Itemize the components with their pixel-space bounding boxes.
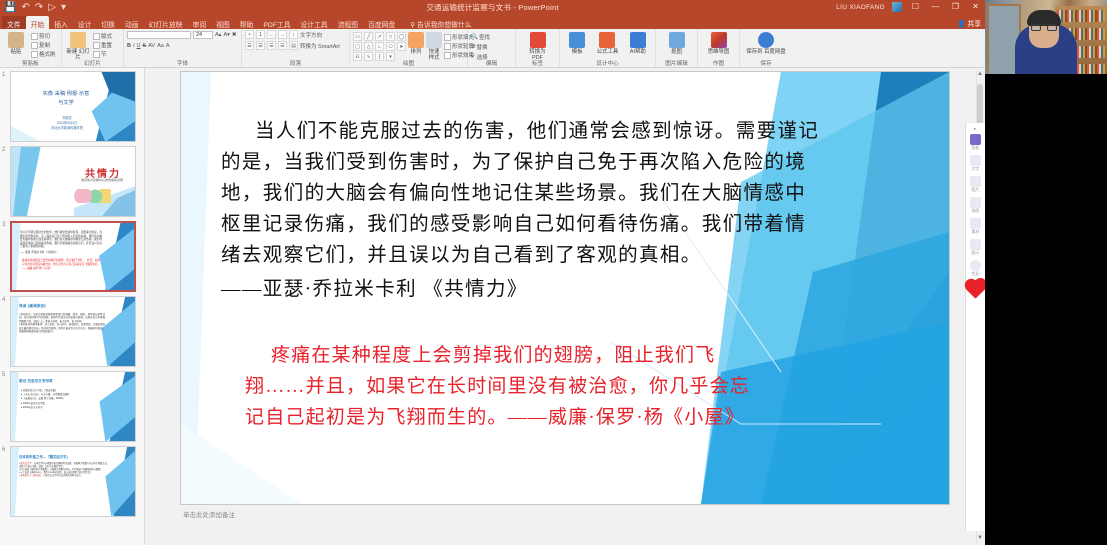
lightbulb-icon: ⚲: [410, 22, 415, 29]
rail-collapse-icon[interactable]: ▸: [974, 126, 976, 131]
quick-styles-label: 快速样式: [426, 49, 442, 61]
color-icon: [970, 260, 981, 271]
paragraph-line-4: 枢里记录伤痛，我们的感受影响自己如何看待伤痛。我们带着情: [221, 209, 839, 240]
mindmap-icon: [711, 32, 727, 48]
copy-icon: [31, 42, 38, 49]
rail-item-smart[interactable]: 智能: [970, 134, 981, 151]
chart-icon: [970, 239, 981, 250]
thumb-title-6: 日本的失落之书—「震灾后文学」: [19, 454, 70, 459]
ai-help-button[interactable]: AI帮助: [625, 30, 651, 55]
section-icon: [93, 51, 100, 58]
thumb-red-3: 疼痛在某种程度上会剪掉我们的翅膀，阻止我们飞翔……并且，如果它在长时间里没有被治…: [22, 259, 100, 270]
notes-pane[interactable]: 单击此处添加备注: [181, 509, 949, 519]
work-area: 1 实像·采稿·例报·示意 与文学: [0, 68, 985, 545]
ribbon-group-editing: 🔍查找 ⇄替换 ✓选择 编辑: [468, 29, 516, 68]
list-item[interactable]: 2 共情力 用共情力化解内心的伤痛和愤怒: [10, 146, 138, 217]
strikethrough-button[interactable]: S: [143, 43, 147, 49]
quick-styles-icon: [426, 32, 442, 48]
tab-help[interactable]: 帮助: [235, 16, 259, 29]
rail-label-text: 文字: [972, 166, 980, 171]
shape-triangle-icon[interactable]: △: [364, 42, 373, 51]
layout-button[interactable]: 版式: [93, 32, 112, 40]
shape-more-icon[interactable]: ▾: [386, 52, 395, 61]
thumb-title-1: 实像·采稿·例报·示意 与文学: [29, 90, 103, 108]
tab-transitions[interactable]: 切换: [96, 16, 120, 29]
red-quote-block[interactable]: 疼痛在某种程度上会剪掉我们的翅膀，阻止我们飞 翔……并且，如果它在长时间里没有被…: [245, 340, 853, 433]
shape-line-icon[interactable]: ╱: [364, 32, 373, 41]
tab-slideshow[interactable]: 幻灯片放映: [144, 16, 188, 29]
ribbon-display-options-icon[interactable]: ☐: [909, 1, 922, 13]
title-bar: 💾 ↶ ↷ ▷ ▾ 交通运输统计监察与文书 - PowerPoint LIU X…: [0, 0, 985, 16]
increase-font-icon[interactable]: A▴: [215, 32, 221, 38]
align-left-icon[interactable]: ☰: [245, 41, 254, 50]
rail-header[interactable]: ▸: [974, 126, 976, 131]
restore-button[interactable]: ❐: [949, 1, 962, 13]
rail-item-text[interactable]: 文字: [970, 155, 981, 172]
red-line-1: 疼痛在某种程度上会剪掉我们的翅膀，阻止我们飞: [245, 340, 853, 371]
tag-group-label: 标签: [519, 61, 556, 68]
paragraph-line-1: 当人们不能克服过去的伤害，他们通常会感到惊讶。需要谨记: [221, 116, 839, 147]
current-slide[interactable]: 当人们不能克服过去的伤害，他们通常会感到惊讶。需要谨记 的是，当我们受到伤害时，…: [181, 72, 949, 504]
shape-oval-icon[interactable]: ◯: [397, 32, 406, 41]
format-painter-label: 格式刷: [39, 50, 56, 58]
image-edit-group-label: 图片编辑: [659, 61, 694, 68]
thumb-title-line1: 实像·采稿·例报·示意: [29, 90, 103, 99]
underline-button[interactable]: U: [137, 43, 141, 49]
replace-icon: ⇄: [471, 44, 476, 50]
tab-design-tools[interactable]: 设计工具: [296, 16, 333, 29]
baidu-cloud-icon: [758, 32, 774, 48]
font-name-input[interactable]: [127, 31, 191, 39]
paragraph-line-5: 绪去观察它们，并且误以为自己看到了客观的真相。: [221, 240, 839, 271]
thumb-number: 5: [2, 372, 5, 378]
quote-attribution: ——亚瑟·乔拉米卡利 《共情力》: [221, 273, 839, 307]
image-icon: [970, 176, 981, 187]
pdf-icon: [530, 32, 546, 48]
material-icon: [970, 218, 981, 229]
thumb-body-5: ▸ 范爱农日记与书信，《鲁迅全集》 ▸ 《卡夫卡日记》，卡夫卡著，河北教育出版社…: [21, 389, 103, 410]
new-slide-icon: [70, 32, 86, 48]
rail-label-smart: 智能: [972, 145, 980, 150]
decrease-font-icon[interactable]: A▾: [223, 32, 229, 38]
shape-effects-icon: [444, 52, 451, 59]
ribbon-tabs[interactable]: 文件 开始 插入 设计 切换 动画 幻灯片放映 审阅 视图 帮助 PDF工具 设…: [0, 16, 985, 29]
font-size-input[interactable]: 24: [193, 31, 213, 39]
find-label: 查找: [479, 33, 490, 41]
text-direction-label[interactable]: 文字方向: [300, 31, 322, 39]
shape-brace-icon[interactable]: {: [375, 52, 384, 61]
layout-icon: [970, 197, 981, 208]
save-group-label: 保存: [743, 61, 789, 68]
slide-thumbnail-6[interactable]: 日本的失落之书—「震灾后文学」 ▪ 震灾后文学：日本文学中以地震灾害为题材的作品…: [10, 446, 136, 517]
columns-icon[interactable]: ▤: [289, 41, 298, 50]
increase-indent-icon[interactable]: →: [278, 30, 287, 39]
select-icon: ✓: [471, 54, 476, 60]
tab-review[interactable]: 审阅: [188, 16, 212, 29]
shape-rounded-icon[interactable]: ▢: [353, 42, 362, 51]
paragraph-text-1: 当人们不能克服过去的伤害，他们通常会感到惊讶。需要谨记: [221, 121, 819, 142]
thumb-sub-2: 用共情力化解内心的伤痛和愤怒: [81, 178, 123, 182]
ribbon-group-diagram: 思维导图 作图: [698, 29, 740, 68]
notes-placeholder: 单击此处添加备注: [183, 512, 235, 519]
list-item[interactable]: 6 日本的失落之书—「震灾后文学」 ▪ 震灾后文学：日本文学中以地震灾害为题材的…: [10, 446, 138, 517]
paste-icon: [8, 32, 24, 48]
slide-thumbnail-1[interactable]: 实像·采稿·例报·示意 与文学 刘晓芳 2022年6月2日 河北大学新闻传播学院: [10, 71, 136, 142]
rail-label-material: 素材: [972, 229, 980, 234]
copy-button[interactable]: 复制: [31, 41, 56, 49]
minimize-button[interactable]: —: [929, 1, 942, 13]
shape-arrow-icon[interactable]: ↗: [375, 32, 384, 41]
ribbon-group-slides: 新建 幻灯片 版式 重置 节 幻灯片: [62, 29, 124, 68]
tab-baidu-netdisk[interactable]: 百度网盘: [363, 16, 400, 29]
convert-pdf-button[interactable]: 转换为PDF: [525, 30, 551, 61]
tab-home[interactable]: 开始: [26, 16, 50, 29]
slide-thumbnail-pane[interactable]: 1 实像·采稿·例报·示意 与文学: [0, 68, 145, 545]
tab-flowchart[interactable]: 流程图: [333, 16, 363, 29]
format-painter-icon: [31, 51, 38, 58]
window-controls: LIU XIAOFANG ☐ — ❐ ✕: [836, 1, 982, 13]
thumb-illustration-2: [71, 189, 111, 203]
screen-root: 💾 ↶ ↷ ▷ ▾ 交通运输统计监察与文书 - PowerPoint LIU X…: [0, 0, 1107, 545]
thumb-number: 6: [2, 447, 5, 453]
cut-button[interactable]: 剪切: [31, 32, 56, 40]
arrange-label: 排列: [411, 49, 422, 55]
slide-thumbnail-2[interactable]: 共情力 用共情力化解内心的伤痛和愤怒: [10, 146, 136, 217]
editing-group-label: 编辑: [471, 61, 512, 68]
design-center-group-label: 设计中心: [563, 61, 652, 68]
scroll-up-arrow[interactable]: ▲: [977, 70, 983, 79]
save-to-baidu-label: 保存到 百度网盘: [746, 49, 785, 55]
rail-item-color[interactable]: 色彩: [970, 260, 981, 277]
bookshelf-row: [1057, 10, 1105, 22]
thumb-number: 3: [2, 222, 5, 228]
tab-pdf-tools[interactable]: PDF工具: [258, 16, 295, 29]
red-line-3: 记自己起初是为飞翔而生的。——威廉·保罗·杨《小屋》: [245, 402, 853, 433]
change-case-button[interactable]: Aa: [157, 43, 164, 49]
presenter-camera[interactable]: [985, 0, 1107, 80]
thumb-attrib-3: ——亚瑟·乔拉米卡利 《共情力》: [20, 250, 58, 254]
rail-label-image: 图片: [972, 187, 980, 192]
reset-button[interactable]: 重置: [93, 41, 112, 49]
slides-group-label: 幻灯片: [65, 61, 120, 68]
replace-label: 替换: [477, 43, 488, 51]
rail-label-layout: 排版: [972, 208, 980, 213]
slide-main-text[interactable]: 当人们不能克服过去的伤害，他们通常会感到惊讶。需要谨记 的是，当我们受到伤害时，…: [221, 116, 839, 307]
mindmap-label: 思维导图: [708, 49, 730, 55]
thumb-number: 2: [2, 147, 5, 153]
account-name[interactable]: LIU XIAOFANG: [836, 4, 885, 11]
mindmap-button[interactable]: 思维导图: [706, 30, 732, 55]
drawing-group-label: 绘图: [353, 61, 464, 68]
select-button[interactable]: ✓选择: [471, 53, 488, 61]
layout-icon: [93, 33, 100, 40]
paste-button[interactable]: 粘贴: [3, 30, 29, 55]
text-icon: [970, 155, 981, 166]
layout-label: 版式: [101, 32, 112, 40]
rail-item-chart[interactable]: 图示: [970, 239, 981, 256]
glasses-lens-left: [1031, 25, 1041, 31]
rail-item-image[interactable]: 图片: [970, 176, 981, 193]
clipboard-group-label: 剪贴板: [3, 61, 58, 68]
share-icon: 👤: [957, 21, 965, 28]
ribbon-group-save: 保存到 百度网盘 保存: [740, 29, 792, 68]
paragraph-line-3: 地，我们的大脑会有偏向性地记住某些场景。我们在大脑情感中: [221, 178, 839, 209]
shape-chevron-icon[interactable]: ➤: [397, 42, 406, 51]
tab-insert[interactable]: 插入: [49, 16, 73, 29]
scissors-icon: [31, 33, 38, 40]
list-item[interactable]: 5 笔记·日志与文书书写 ▸ 范爱农日记与书信，《鲁迅全集》 ▸ 《卡夫卡日记》…: [10, 371, 138, 442]
avatar[interactable]: [892, 2, 902, 12]
list-item[interactable]: 1 实像·采稿·例报·示意 与文学: [10, 71, 138, 142]
ai-help-icon: [630, 32, 646, 48]
cutout-button[interactable]: 抠图: [664, 30, 690, 55]
font-color-button[interactable]: A: [166, 43, 170, 49]
share-label: 共享: [967, 21, 981, 28]
share-button[interactable]: 👤 共享: [957, 18, 981, 28]
ribbon-group-drawing: ▭╱↗□◯ ▢△∟⬠➤ ⎌∿{▾ 排列 快速样式 形状填充 形状轮廓: [350, 29, 468, 68]
section-button[interactable]: 节: [93, 50, 112, 58]
rail-label-chart: 图示: [972, 250, 980, 255]
convert-pdf-label: 转换为PDF: [525, 49, 551, 61]
rail-item-material[interactable]: 素材: [970, 218, 981, 235]
thumb-body-6: ▪ 震灾后文学：日本文学中以地震灾害为题材的作品群，在阪神大地震与东日本大地震之…: [19, 463, 109, 478]
tell-me-label: 告诉我你想做什么: [417, 22, 471, 29]
formula-label: 公式工具: [597, 49, 619, 55]
find-button[interactable]: 🔍查找: [471, 33, 490, 41]
red-text-1: 疼痛在某种程度上会剪掉我们的翅膀，阻止我们飞: [245, 345, 715, 366]
ribbon-group-clipboard: 粘贴 剪切 复制 格式刷 剪贴板: [0, 29, 62, 68]
rail-label-color: 色彩: [972, 271, 980, 276]
shape-square-icon[interactable]: □: [386, 32, 395, 41]
ribbon-group-tag: 转换为PDF 标签: [516, 29, 560, 68]
thumb-number: 4: [2, 297, 5, 303]
slide-thumbnail-5[interactable]: 笔记·日志与文书书写 ▸ 范爱农日记与书信，《鲁迅全集》 ▸ 《卡夫卡日记》，卡…: [10, 371, 136, 442]
diagram-group-label: 作图: [701, 61, 736, 68]
shape-elbow-icon[interactable]: ∟: [375, 42, 384, 51]
font-group-label: 字体: [127, 61, 238, 68]
bullets-icon[interactable]: •: [245, 30, 254, 39]
paragraph-line-2: 的是，当我们受到伤害时，为了保护自己免于再次陷入危险的境: [221, 147, 839, 178]
italic-button[interactable]: I: [133, 43, 135, 49]
close-button[interactable]: ✕: [969, 1, 982, 13]
red-line-2: 翔……并且，如果它在长时间里没有被治愈，你几乎会忘: [245, 371, 853, 402]
list-item[interactable]: 4 导读《新闻采访》 • 新闻采访，记者为获取新闻素材而进行的观察、询问、倾听、…: [10, 296, 138, 367]
character-spacing-button[interactable]: AV: [148, 43, 155, 49]
justify-icon[interactable]: ☰: [278, 41, 287, 50]
shape-rect-icon[interactable]: ▭: [353, 32, 362, 41]
select-label: 选择: [477, 53, 488, 61]
thumb-body-3: 当人们不能克服过去的伤害，他们通常会感到惊讶。需要谨记的是，当我们受到伤害时，为…: [20, 231, 102, 249]
template-button[interactable]: 模板: [564, 30, 590, 55]
powerpoint-window: 💾 ↶ ↷ ▷ ▾ 交通运输统计监察与文书 - PowerPoint LIU X…: [0, 0, 985, 545]
glasses-icon: [1031, 24, 1057, 30]
ribbon-group-font: 24 A▴ A▾ ✖ B I U S AV Aa A 字体: [124, 29, 242, 68]
tab-animations[interactable]: 动画: [120, 16, 144, 29]
new-slide-label: 新建 幻灯片: [65, 49, 91, 61]
shape-outline-icon: [444, 43, 451, 50]
shape-pentagon-icon[interactable]: ⬠: [386, 42, 395, 51]
cut-label: 剪切: [39, 32, 50, 40]
slide-editing-area: 当人们不能克服过去的伤害，他们通常会感到惊讶。需要谨记 的是，当我们受到伤害时，…: [145, 68, 985, 545]
clear-formatting-icon[interactable]: ✖: [232, 32, 237, 38]
list-item[interactable]: 3 当人们不能克服过去的伤害，他们通常会感到惊讶。需要谨记的是，当我们受到伤害时…: [10, 221, 138, 292]
paste-label: 粘贴: [11, 49, 22, 55]
shape-curve-icon[interactable]: ∿: [364, 52, 373, 61]
shape-freeform-icon[interactable]: ⎌: [353, 52, 362, 61]
formula-icon: [599, 32, 615, 48]
reset-label: 重置: [101, 41, 112, 49]
thumb-title-4: 导读《新闻采访》: [19, 304, 48, 309]
quick-styles-button[interactable]: 快速样式: [426, 30, 442, 61]
tab-view[interactable]: 视图: [211, 16, 235, 29]
shape-fill-icon: [444, 34, 451, 41]
search-icon: 🔍: [471, 34, 478, 40]
black-filler: [985, 80, 1107, 545]
cutout-icon: [669, 32, 685, 48]
new-slide-button[interactable]: 新建 幻灯片: [65, 30, 91, 61]
format-painter-button[interactable]: 格式刷: [31, 50, 56, 58]
formula-tool-button[interactable]: 公式工具: [594, 30, 620, 55]
rail-item-layout[interactable]: 排版: [970, 197, 981, 214]
ribbon: 粘贴 剪切 复制 格式刷 剪贴板 新建 幻灯片: [0, 29, 985, 68]
thumb-title-5: 笔记·日志与文书书写: [19, 379, 53, 384]
template-label: 模板: [572, 49, 583, 55]
convert-smartart-label[interactable]: 转换为 SmartArt: [300, 42, 340, 50]
tab-file[interactable]: 文件: [2, 16, 26, 29]
slide-thumbnail-3[interactable]: 当人们不能克服过去的伤害，他们通常会感到惊讶。需要谨记的是，当我们受到伤害时，为…: [10, 221, 136, 292]
thumb-number: 1: [2, 72, 5, 78]
template-icon: [569, 32, 585, 48]
thumb-sub3: 河北大学新闻传播学院: [39, 126, 95, 131]
arrange-button[interactable]: 排列: [408, 30, 424, 55]
cutout-label: 抠图: [671, 49, 682, 55]
save-to-baidu-button[interactable]: 保存到 百度网盘: [744, 30, 788, 55]
paragraph-group-label: 段落: [245, 61, 346, 68]
align-right-icon[interactable]: ☰: [267, 41, 276, 50]
glasses-lens-right: [1047, 25, 1057, 31]
smart-icon: [970, 134, 981, 145]
reset-icon: [93, 42, 100, 49]
design-tools-rail[interactable]: ▸ 智能 文字 图片 排版: [965, 123, 985, 531]
copy-label: 复制: [39, 41, 50, 49]
thumb-body-4: • 新闻采访，记者为获取新闻素材而进行的观察、询问、倾听、思索和记录等活动。采访…: [19, 313, 105, 333]
ribbon-group-paragraph: • 1 ← → ↕ 文字方向 ☰ ☰ ☰ ☰ ▤ 转换为 SmartArt: [242, 29, 350, 68]
heart-icon[interactable]: [966, 280, 984, 298]
ribbon-group-image-edit: 抠图 图片编辑: [656, 29, 698, 68]
line-spacing-icon[interactable]: ↕: [289, 30, 298, 39]
thumb-title-line2: 与文学: [29, 99, 103, 108]
thumb-sub-1: 刘晓芳 2022年6月2日 河北大学新闻传播学院: [39, 116, 95, 131]
tell-me-box[interactable]: ⚲ 告诉我你想做什么: [400, 16, 475, 29]
align-center-icon[interactable]: ☰: [256, 41, 265, 50]
tab-design[interactable]: 设计: [73, 16, 97, 29]
bold-button[interactable]: B: [127, 43, 131, 49]
section-label: 节: [101, 50, 107, 58]
decrease-indent-icon[interactable]: ←: [267, 30, 276, 39]
arrange-icon: [408, 32, 424, 48]
ai-help-label: AI帮助: [630, 49, 646, 55]
scroll-down-arrow[interactable]: ▼: [977, 534, 983, 543]
replace-button[interactable]: ⇄替换: [471, 43, 488, 51]
slide-thumbnail-4[interactable]: 导读《新闻采访》 • 新闻采访，记者为获取新闻素材而进行的观察、询问、倾听、思索…: [10, 296, 136, 367]
ribbon-group-design-center: 模板 公式工具 AI帮助 设计中心: [560, 29, 656, 68]
numbering-icon[interactable]: 1: [256, 30, 265, 39]
